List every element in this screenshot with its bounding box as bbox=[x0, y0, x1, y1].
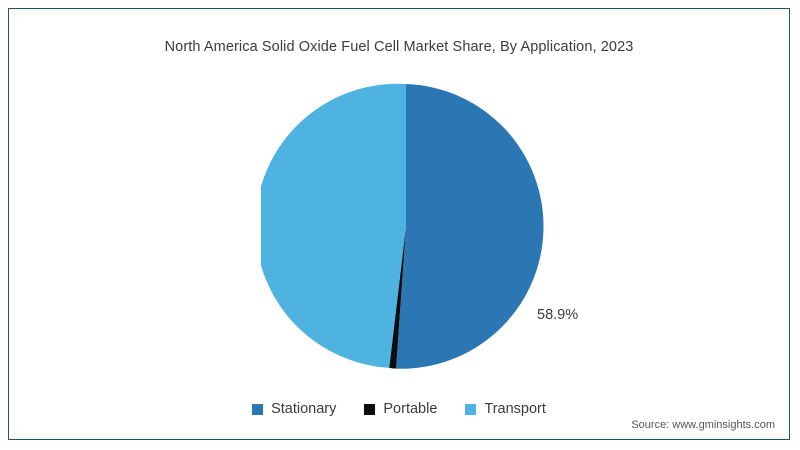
pie-chart bbox=[261, 81, 551, 371]
pie-slice-transport[interactable] bbox=[261, 84, 406, 368]
pie-slice-stationary[interactable] bbox=[396, 84, 543, 369]
legend-swatch-icon bbox=[465, 404, 476, 415]
pie-chart-area: 58.9% bbox=[9, 81, 800, 371]
chart-title: North America Solid Oxide Fuel Cell Mark… bbox=[9, 39, 789, 55]
chart-frame: North America Solid Oxide Fuel Cell Mark… bbox=[8, 8, 790, 440]
legend-item-portable[interactable]: Portable bbox=[364, 401, 437, 417]
legend-swatch-icon bbox=[364, 404, 375, 415]
legend-label: Portable bbox=[383, 401, 437, 417]
legend-label: Stationary bbox=[271, 401, 336, 417]
chart-legend: Stationary Portable Transport bbox=[9, 401, 789, 417]
source-attribution: Source: www.gminsights.com bbox=[631, 419, 775, 431]
pie-value-label: 58.9% bbox=[537, 307, 578, 323]
legend-label: Transport bbox=[484, 401, 546, 417]
legend-swatch-icon bbox=[252, 404, 263, 415]
legend-item-stationary[interactable]: Stationary bbox=[252, 401, 336, 417]
legend-item-transport[interactable]: Transport bbox=[465, 401, 546, 417]
